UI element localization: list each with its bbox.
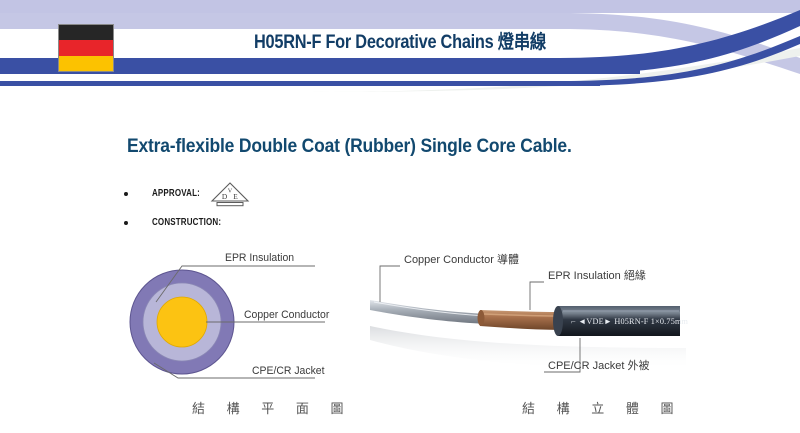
vde-letter-v: V bbox=[228, 188, 233, 195]
vde-letter-d: D bbox=[222, 192, 228, 201]
bullet-item-approval: APPROVAL: bbox=[124, 188, 212, 199]
cable3d-label-epr-insulation: EPR Insulation 絕緣 bbox=[548, 269, 646, 282]
vde-letter-e: E bbox=[233, 192, 238, 201]
page-root: H05RN-F For Decorative Chains 燈串線 Extra-… bbox=[0, 0, 800, 433]
leader-line-insulation bbox=[530, 282, 544, 310]
cable3d-label-cpe-cr-jacket: CPE/CR Jacket 外被 bbox=[548, 359, 649, 372]
bullet-item-construction: CONSTRUCTION: bbox=[124, 217, 238, 228]
cross-label-copper-conductor: Copper Conductor bbox=[244, 309, 330, 321]
cable-marking-text: ⌐ ◄VDE► H05RN-F 1×0.75mm² bbox=[571, 317, 688, 326]
cross-label-epr-insulation: EPR Insulation bbox=[225, 252, 294, 264]
page-header-banner: H05RN-F For Decorative Chains 燈串線 bbox=[0, 0, 800, 92]
approval-label: APPROVAL: bbox=[152, 188, 200, 199]
layer-copper-conductor bbox=[157, 297, 207, 347]
cable-3d-diagram: ⌐ ◄VDE► H05RN-F 1×0.75mm² Copper Conduct… bbox=[368, 248, 688, 388]
cross-label-cpe-cr-jacket: CPE/CR Jacket bbox=[252, 365, 325, 377]
vde-approval-mark-icon: V D E bbox=[209, 180, 251, 208]
cable-cross-section-diagram: EPR Insulation Copper Conductor CPE/CR J… bbox=[120, 248, 390, 396]
construction-label: CONSTRUCTION: bbox=[152, 217, 221, 228]
cable3d-label-copper-conductor: Copper Conductor 導體 bbox=[404, 252, 519, 266]
cable-copper-conductor bbox=[370, 300, 488, 324]
cable-epr-insulation bbox=[480, 310, 564, 330]
header-band-dark-thin bbox=[0, 81, 600, 86]
insulation-end-face bbox=[478, 310, 485, 326]
bullet-dot-icon bbox=[124, 192, 128, 196]
header-band-light-top bbox=[0, 0, 800, 13]
flag-stripe-gold bbox=[59, 56, 113, 71]
leader-line-conductor bbox=[380, 266, 400, 302]
bullet-dot-icon bbox=[124, 221, 128, 225]
product-subtitle: Extra-flexible Double Coat (Rubber) Sing… bbox=[127, 136, 572, 158]
caption-3d-view: 結 構 立 體 圖 bbox=[522, 398, 682, 417]
page-title: H05RN-F For Decorative Chains 燈串線 bbox=[56, 27, 744, 54]
caption-cross-section: 結 構 平 面 圖 bbox=[192, 398, 352, 417]
jacket-end-face bbox=[553, 306, 563, 336]
